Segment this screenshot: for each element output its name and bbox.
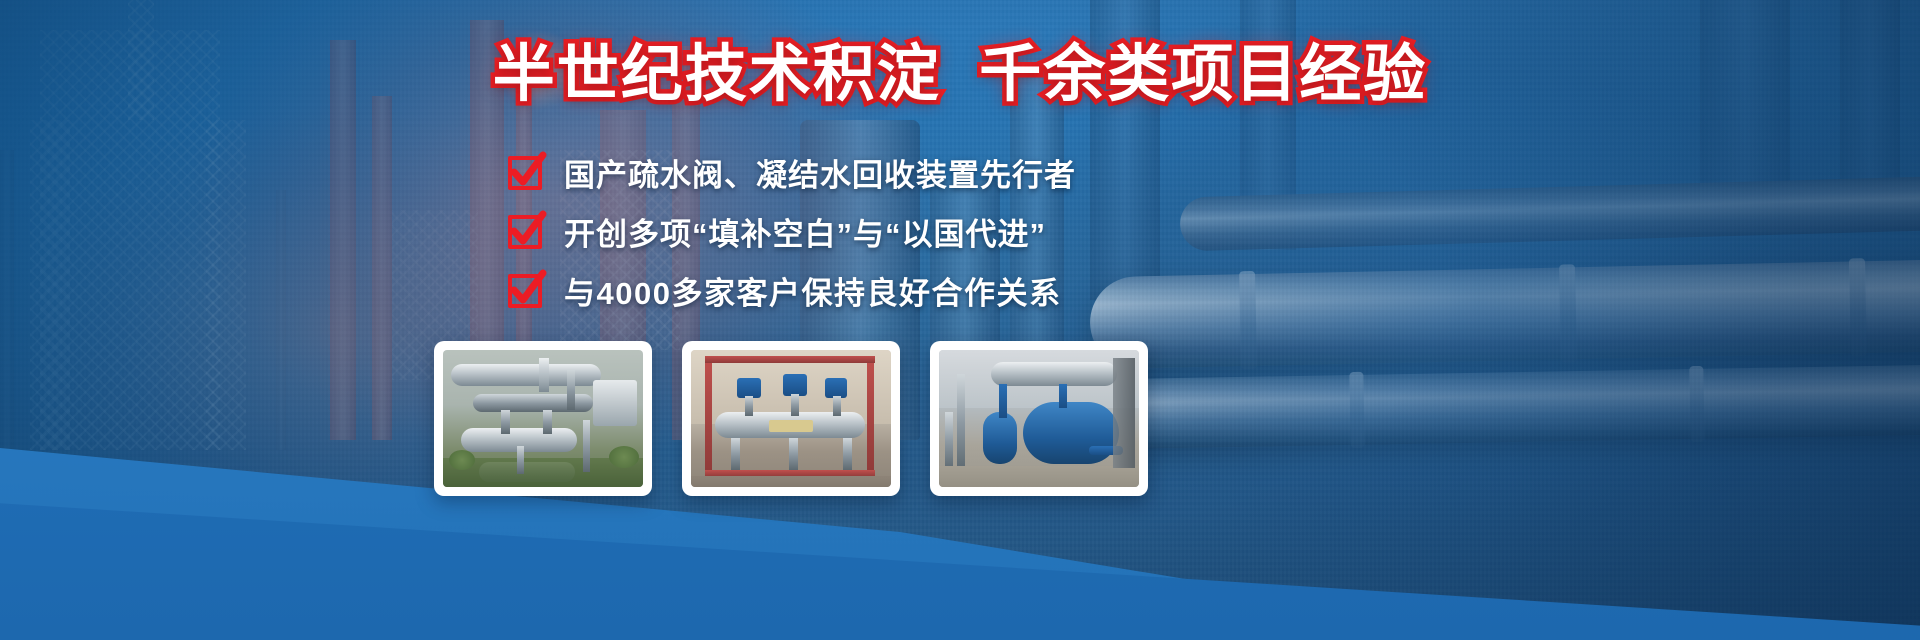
feature-list: 国产疏水阀、凝结水回收装置先行者 开创多项“填补空白”与“以国代进” 与4000… — [508, 150, 1076, 313]
photo-card-2[interactable] — [682, 341, 900, 496]
list-item: 与4000多家客户保持良好合作关系 — [508, 268, 1076, 313]
list-item: 开创多项“填补空白”与“以国代进” — [508, 209, 1076, 254]
hero-banner: 半世纪技术积淀 千余类项目经验 国产疏水阀、凝结水回收装置先行者 开创多项“填补… — [0, 0, 1920, 640]
checkbox-checked-icon — [508, 274, 542, 308]
list-item: 国产疏水阀、凝结水回收装置先行者 — [508, 150, 1076, 195]
photo-condensate-recovery-unit — [691, 350, 891, 487]
photo-steam-trap-skid — [443, 350, 643, 487]
page-title: 半世纪技术积淀 千余类项目经验 — [0, 38, 1920, 111]
list-item-label: 与4000多家客户保持良好合作关系 — [564, 268, 1061, 313]
photo-blue-condensate-vessel — [939, 350, 1139, 487]
list-item-label: 开创多项“填补空白”与“以国代进” — [564, 209, 1046, 254]
photo-card-1[interactable] — [434, 341, 652, 496]
product-photo-gallery — [434, 341, 1148, 496]
list-item-label: 国产疏水阀、凝结水回收装置先行者 — [564, 150, 1076, 195]
checkbox-checked-icon — [508, 156, 542, 190]
checkbox-checked-icon — [508, 215, 542, 249]
photo-card-3[interactable] — [930, 341, 1148, 496]
